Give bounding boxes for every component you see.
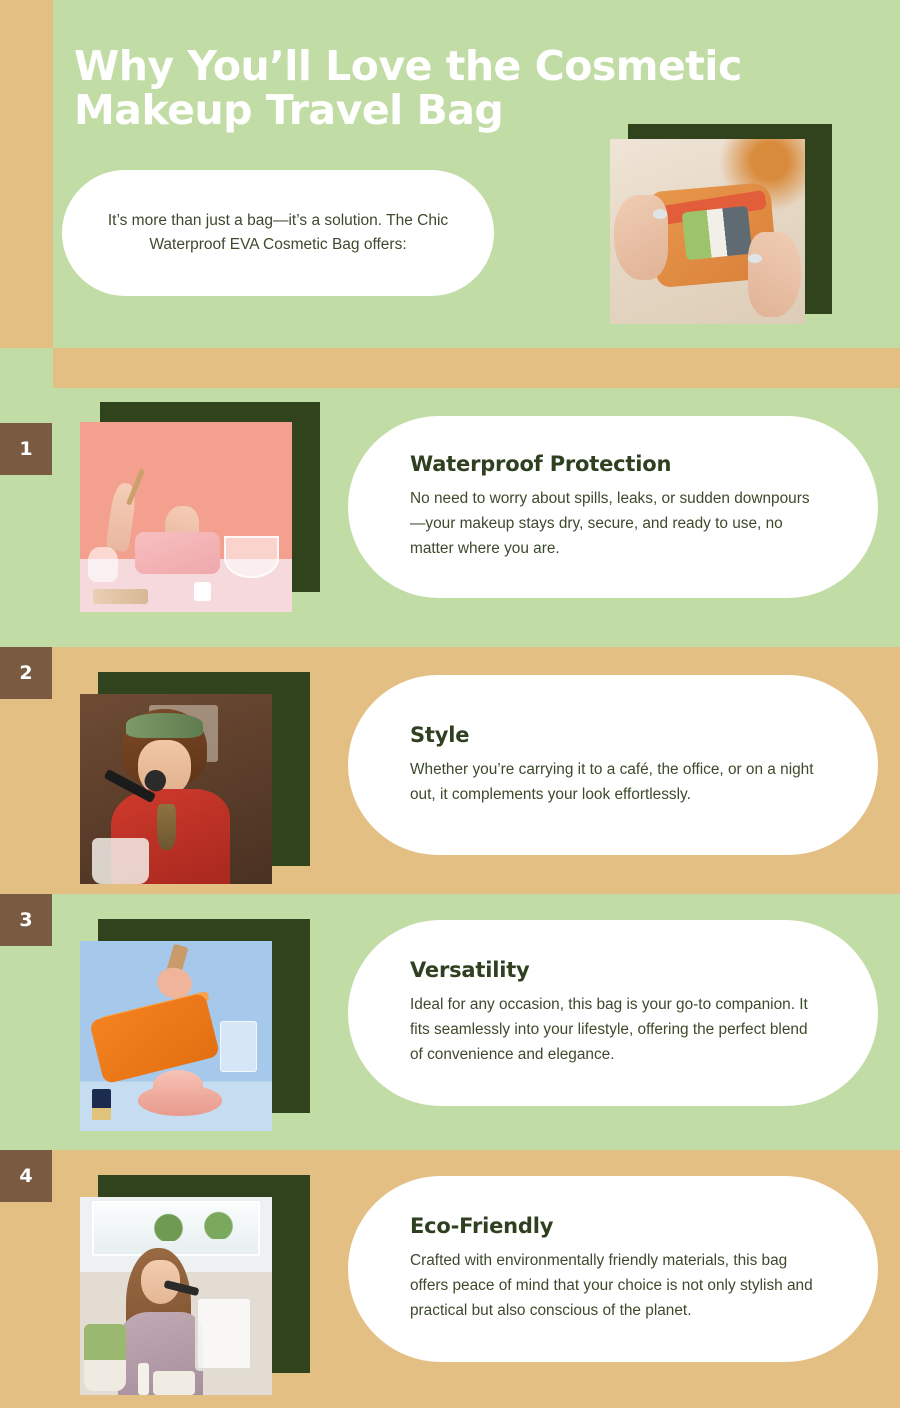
feature-number-badge-3: 3 bbox=[0, 894, 52, 946]
feature-body-4: Crafted with environmentally friendly ma… bbox=[410, 1249, 816, 1324]
feature-row-3: 3 Versatility Ideal for any occasion, th… bbox=[0, 894, 900, 1150]
hero-image bbox=[610, 139, 805, 324]
feature-card-3: Versatility Ideal for any occasion, this… bbox=[348, 920, 878, 1106]
feature-body-2: Whether you’re carrying it to a café, th… bbox=[410, 758, 816, 808]
feature-body-1: No need to worry about spills, leaks, or… bbox=[410, 487, 816, 562]
feature-number-4: 4 bbox=[19, 1165, 32, 1187]
feature-row-1: 1 Waterproof Protection No need to worry… bbox=[0, 388, 900, 647]
feature-row-2: 2 Style Whether you’re carrying it to a … bbox=[0, 647, 900, 894]
feature-image-frame-2 bbox=[80, 672, 310, 884]
hero-image-frame bbox=[610, 124, 832, 324]
feature-card-1: Waterproof Protection No need to worry a… bbox=[348, 416, 878, 598]
feature-number-badge-2: 2 bbox=[0, 647, 52, 699]
header-section: Why You’ll Love the Cosmetic Makeup Trav… bbox=[0, 0, 900, 348]
page-title: Why You’ll Love the Cosmetic Makeup Trav… bbox=[74, 44, 834, 133]
feature-image-4 bbox=[80, 1197, 272, 1395]
infographic-page: Why You’ll Love the Cosmetic Makeup Trav… bbox=[0, 0, 900, 1408]
feature-row-4: 4 Eco-Friendly Crafted with environmenta… bbox=[0, 1150, 900, 1408]
header-left-accent-strip bbox=[0, 0, 53, 348]
feature-number-badge-4: 4 bbox=[0, 1150, 52, 1202]
feature-title-3: Versatility bbox=[410, 958, 816, 982]
feature-number-1: 1 bbox=[19, 438, 32, 460]
feature-image-frame-3 bbox=[80, 919, 310, 1131]
feature-title-4: Eco-Friendly bbox=[410, 1214, 816, 1238]
feature-image-2 bbox=[80, 694, 272, 884]
feature-title-2: Style bbox=[410, 723, 816, 747]
feature-card-4: Eco-Friendly Crafted with environmentall… bbox=[348, 1176, 878, 1362]
feature-image-frame-4 bbox=[80, 1175, 310, 1395]
feature-title-1: Waterproof Protection bbox=[410, 452, 816, 476]
feature-image-1 bbox=[80, 422, 292, 612]
feature-number-badge-1: 1 bbox=[0, 423, 52, 475]
feature-image-frame-1 bbox=[80, 402, 320, 612]
feature-number-3: 3 bbox=[19, 909, 32, 931]
feature-image-3 bbox=[80, 941, 272, 1131]
header-divider-bar bbox=[53, 348, 900, 388]
intro-card: It’s more than just a bag—it’s a solutio… bbox=[62, 170, 494, 296]
intro-text: It’s more than just a bag—it’s a solutio… bbox=[91, 209, 466, 258]
feature-card-2: Style Whether you’re carrying it to a ca… bbox=[348, 675, 878, 855]
feature-number-2: 2 bbox=[19, 662, 32, 684]
feature-body-3: Ideal for any occasion, this bag is your… bbox=[410, 993, 816, 1068]
